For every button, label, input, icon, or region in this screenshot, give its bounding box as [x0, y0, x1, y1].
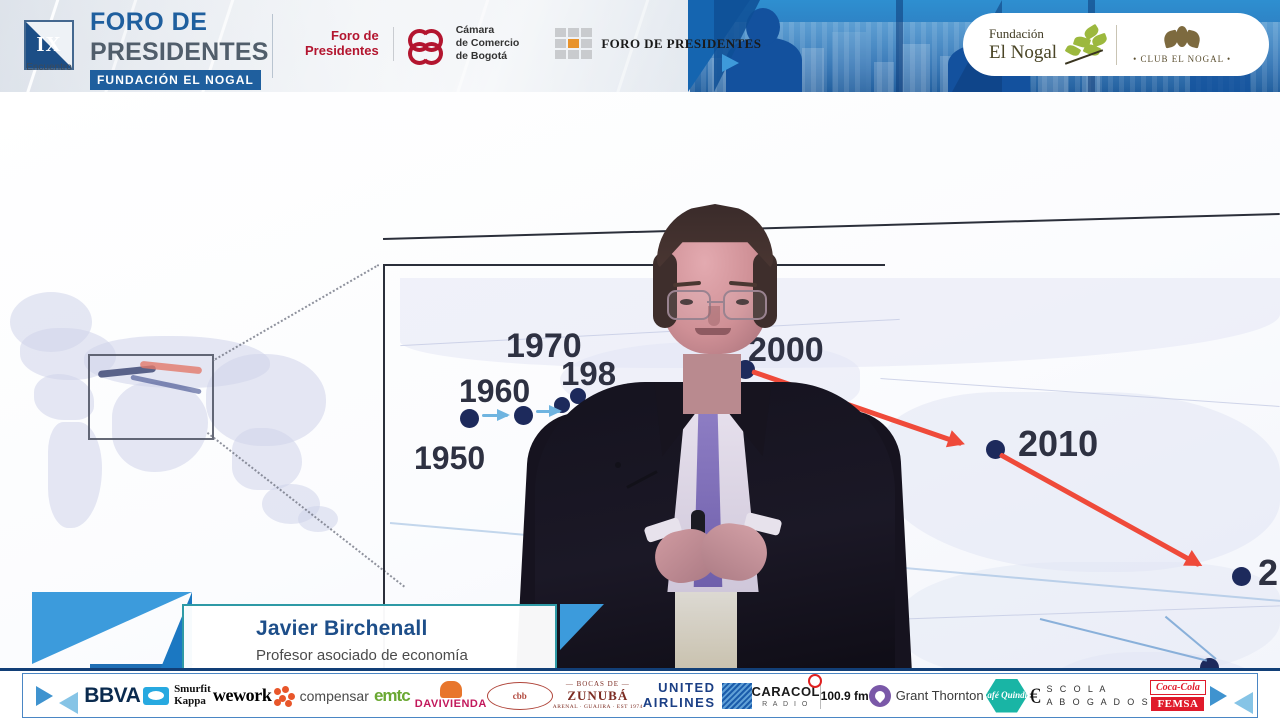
- club-emblem-icon: [1162, 25, 1202, 51]
- scola-line2: A B O G A D O S: [1046, 696, 1150, 708]
- davivienda-wordmark: DAVIVIENDA: [415, 698, 487, 710]
- ix-encuentro-logo: IX Encuentro: [18, 18, 80, 80]
- speaker-badge: [675, 592, 737, 668]
- callout-line-bottom: [207, 432, 405, 587]
- ccb-line2: de Comercio: [456, 37, 520, 50]
- grant-thornton-wordmark: Grant Thornton: [896, 688, 984, 703]
- year-label: 2: [1258, 552, 1278, 594]
- play-triangle-icon: [33, 686, 55, 706]
- cbb-wordmark: cbb: [487, 682, 553, 710]
- zunuba-sub-label: ARENAL · GUAJIRA · EST 1974: [553, 704, 643, 710]
- year-label: 1950: [414, 440, 485, 477]
- scola-monogram-icon: €: [1029, 683, 1040, 709]
- event-header: IX Encuentro FORO DE PRESIDENTES FUNDACI…: [0, 0, 1280, 92]
- sponsor-logo-bbva: BBVA: [81, 684, 143, 708]
- grant-thornton-icon: [869, 685, 891, 707]
- club-el-nogal-logo: • CLUB EL NOGAL •: [1133, 25, 1231, 64]
- sponsor-logo-cafe-quindio: Café Quindío: [984, 679, 1030, 713]
- olive-branch-icon: [1062, 26, 1108, 64]
- wework-wordmark: wework: [213, 685, 272, 706]
- caracol-sub-label: R A D I O: [762, 701, 809, 708]
- fundacion-line2: El Nogal: [989, 42, 1057, 64]
- header-title-line2: PRESIDENTES: [90, 38, 269, 67]
- sponsor-logo-cbb: cbb: [487, 682, 553, 710]
- logo-roman-numeral: IX: [26, 32, 72, 57]
- cafe-quindio-badge: Café Quindío: [986, 679, 1028, 713]
- sponsor-logo-scola-abogados: € S C O L A A B O G A D O S: [1029, 683, 1150, 709]
- emtc-wordmark: emtc: [374, 686, 410, 706]
- lower-third-chevron-small: [560, 604, 604, 650]
- speaker-role: Profesor asociado de economía de la Univ…: [256, 646, 539, 668]
- foro-line1: Foro de: [305, 29, 379, 44]
- sponsor-logo-caracol-radio: CARACOL R A D I O: [752, 683, 821, 708]
- fm-frequency-label: 100.9 fm: [821, 689, 869, 703]
- map-landmass: [34, 374, 94, 420]
- united-globe-icon: [722, 683, 752, 709]
- speaker-glasses: [667, 290, 711, 320]
- femsa-wordmark: FEMSA: [1151, 697, 1204, 711]
- sponsor-logo-emtc: emtc: [369, 686, 415, 706]
- logo-divider: [393, 27, 394, 61]
- fundacion-el-nogal-logo: Fundación El Nogal: [963, 26, 1108, 64]
- sponsor-logo-wework: wework: [211, 685, 274, 706]
- event-brand-lockup: IX Encuentro FORO DE PRESIDENTES FUNDACI…: [18, 8, 269, 90]
- sponsor-logo-united-airlines: UNITED AIRLINES: [643, 681, 752, 711]
- coca-cola-wordmark: Coca-Cola: [1150, 680, 1206, 695]
- sponsor-logo-caracol-fm: 100.9 fm: [821, 689, 869, 703]
- fdp-wordmark: FORO DE PRESIDENTES: [601, 36, 761, 52]
- zunuba-top-label: — BOCAS DE —: [553, 681, 643, 689]
- caracol-o-icon: [808, 674, 822, 688]
- header-title-badge: FUNDACIÓN EL NOGAL: [90, 70, 261, 90]
- sponsor-logo-smurfit-kappa: Smurfit Kappa: [143, 684, 211, 707]
- header-divider: [272, 14, 273, 78]
- logo-encuentro-label: Encuentro: [18, 62, 80, 73]
- header-title-line1: FORO DE: [90, 8, 269, 37]
- speaker-glasses: [723, 290, 767, 320]
- ccb-line3: de Bogotá: [456, 50, 520, 63]
- sponsor-bar: BBVA Smurfit Kappa wework compensar emtc: [0, 668, 1280, 720]
- zunuba-wordmark: ZUNUBÁ: [553, 688, 643, 704]
- callout-line-top: [212, 264, 379, 362]
- header-right-logo-pill: Fundación El Nogal: [963, 13, 1269, 76]
- speaker-role-line1: Profesor asociado de economía: [256, 646, 539, 665]
- zoom-map-landmass: [880, 392, 1280, 572]
- speaker-name-card: Javier Birchenall Profesor asociado de e…: [182, 604, 557, 668]
- ccb-line1: Cámara: [456, 24, 520, 37]
- ccb-wordmark: Cámara de Comercio de Bogotá: [456, 24, 520, 63]
- sponsor-bar-inner: BBVA Smurfit Kappa wework compensar emtc: [22, 673, 1258, 718]
- sponsor-logo-compensar: compensar: [274, 686, 369, 706]
- lapel-microphone: [615, 462, 621, 468]
- fundacion-line1: Fundación: [989, 26, 1057, 42]
- foro-line2: Presidentes: [305, 44, 379, 59]
- speaker-name: Javier Birchenall: [256, 617, 539, 641]
- video-feed: 1950 1960 1970 198 2000 2010 2 1820 1500: [0, 92, 1280, 668]
- year-label: 2010: [1018, 423, 1098, 465]
- foro-presidentes-logo: FORO DE PRESIDENTES: [555, 28, 761, 59]
- bbva-wordmark: BBVA: [84, 684, 140, 708]
- data-point: [460, 409, 479, 428]
- play-triangle-left-icon: [55, 692, 81, 714]
- united-line2: AIRLINES: [643, 696, 716, 711]
- davivienda-house-icon: [440, 681, 462, 698]
- sponsor-logo-zunuba: — BOCAS DE — ZUNUBÁ ARENAL · GUAJIRA · E…: [553, 681, 643, 711]
- ccb-logo-icon: [408, 29, 442, 59]
- compensar-icon: [274, 686, 296, 706]
- fdp-grid-icon: [555, 28, 592, 59]
- broadcast-stage: IX Encuentro FORO DE PRESIDENTES FUNDACI…: [0, 0, 1280, 720]
- header-center-logos: Foro de Presidentes Cámara de Comercio d…: [305, 24, 761, 63]
- play-triangle-left-icon: [1231, 692, 1257, 714]
- smurfit-icon: [143, 687, 169, 705]
- scola-line1: S C O L A: [1046, 683, 1150, 695]
- sponsor-logo-davivienda: DAVIVIENDA: [415, 681, 487, 710]
- logo-divider: [1116, 25, 1117, 65]
- zoom-map-landmass: [900, 562, 1280, 668]
- data-point: [1232, 567, 1251, 586]
- united-line1: UNITED: [643, 681, 716, 696]
- foro-de-presidentes-wordmark: Foro de Presidentes: [305, 29, 379, 59]
- club-wordmark: • CLUB EL NOGAL •: [1133, 54, 1231, 64]
- smurfit-line2: Kappa: [174, 696, 211, 708]
- smurfit-line1: Smurfit: [174, 684, 211, 696]
- play-triangle-icon: [1206, 686, 1231, 706]
- speaker-video-subject: [505, 92, 925, 668]
- sponsor-logo-grant-thornton: Grant Thornton: [869, 685, 984, 707]
- compensar-wordmark: compensar: [300, 688, 369, 704]
- cafe-quindio-wordmark: Café Quindío: [981, 691, 1031, 700]
- sponsor-logo-coca-cola-femsa: Coca-Cola FEMSA: [1150, 680, 1206, 711]
